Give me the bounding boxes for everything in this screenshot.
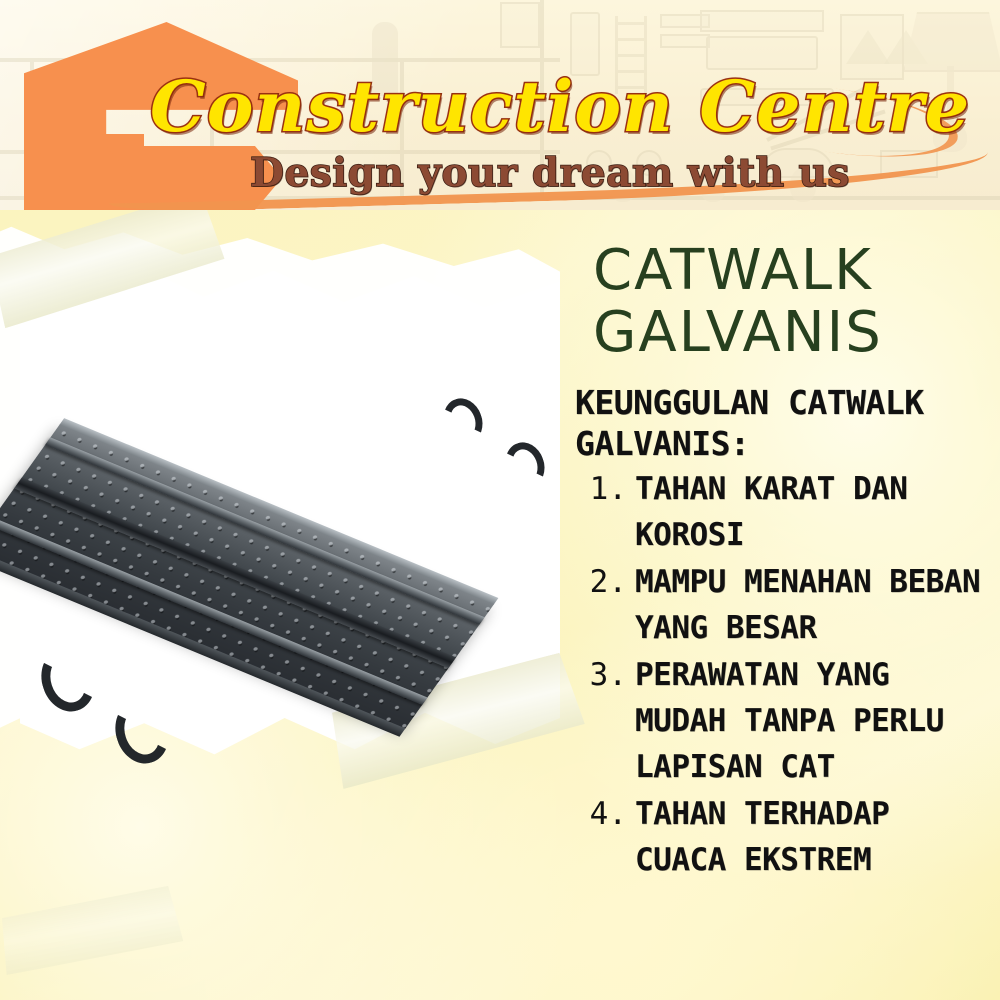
benefits-heading: KEUNGGULAN CATWALK GALVANIS: xyxy=(575,382,985,464)
brand-wordmark: Construction Centre xyxy=(150,72,920,142)
list-item: 1. TAHAN KARAT DAN KOROSI xyxy=(575,466,985,558)
list-item-label: MAMPU MENAHAN BEBAN YANG BESAR xyxy=(635,559,985,651)
promo-poster: Construction Centre Design your dream wi… xyxy=(0,0,1000,1000)
page-title-line-2: GALVANIS xyxy=(593,300,883,365)
tape-stroke-bottom-left xyxy=(0,885,184,975)
plank-hook-near-2 xyxy=(107,694,176,771)
catwalk-plank-icon xyxy=(20,380,540,740)
list-item: 4. TAHAN TERHADAP CUACA EKSTREM xyxy=(575,791,985,883)
list-item-label: TAHAN KARAT DAN KOROSI xyxy=(635,466,985,558)
list-item-number: 3. xyxy=(575,652,635,698)
plank-hook-near-1 xyxy=(33,642,102,719)
list-item-number: 2. xyxy=(575,559,635,605)
benefits-list: 1. TAHAN KARAT DAN KOROSI 2. MAMPU MENAH… xyxy=(575,466,985,883)
lamp-shade-icon xyxy=(903,12,1000,72)
page-title: CATWALK GALVANIS xyxy=(593,240,985,364)
brand-tagline: Design your dream with us xyxy=(150,152,950,194)
list-item-number: 1. xyxy=(575,466,635,512)
product-image-catwalk-plank xyxy=(20,380,540,740)
list-item: 2. MAMPU MENAHAN BEBAN YANG BESAR xyxy=(575,559,985,651)
page-title-line-1: CATWALK xyxy=(593,238,873,303)
header-banner: Construction Centre Design your dream wi… xyxy=(0,0,1000,210)
plank-hook-far-1 xyxy=(437,393,488,449)
content-column: CATWALK GALVANIS KEUNGGULAN CATWALK GALV… xyxy=(575,240,985,884)
list-item: 3. PERAWATAN YANG MUDAH TANPA PERLU LAPI… xyxy=(575,652,985,790)
benefits-heading-line-1: KEUNGGULAN CATWALK xyxy=(575,383,924,422)
poster-body: CATWALK GALVANIS KEUNGGULAN CATWALK GALV… xyxy=(0,210,1000,1000)
list-item-number: 4. xyxy=(575,791,635,837)
benefits-heading-line-2: GALVANIS: xyxy=(575,424,749,463)
list-item-label: PERAWATAN YANG MUDAH TANPA PERLU LAPISAN… xyxy=(635,652,985,790)
list-item-label: TAHAN TERHADAP CUACA EKSTREM xyxy=(635,791,985,883)
